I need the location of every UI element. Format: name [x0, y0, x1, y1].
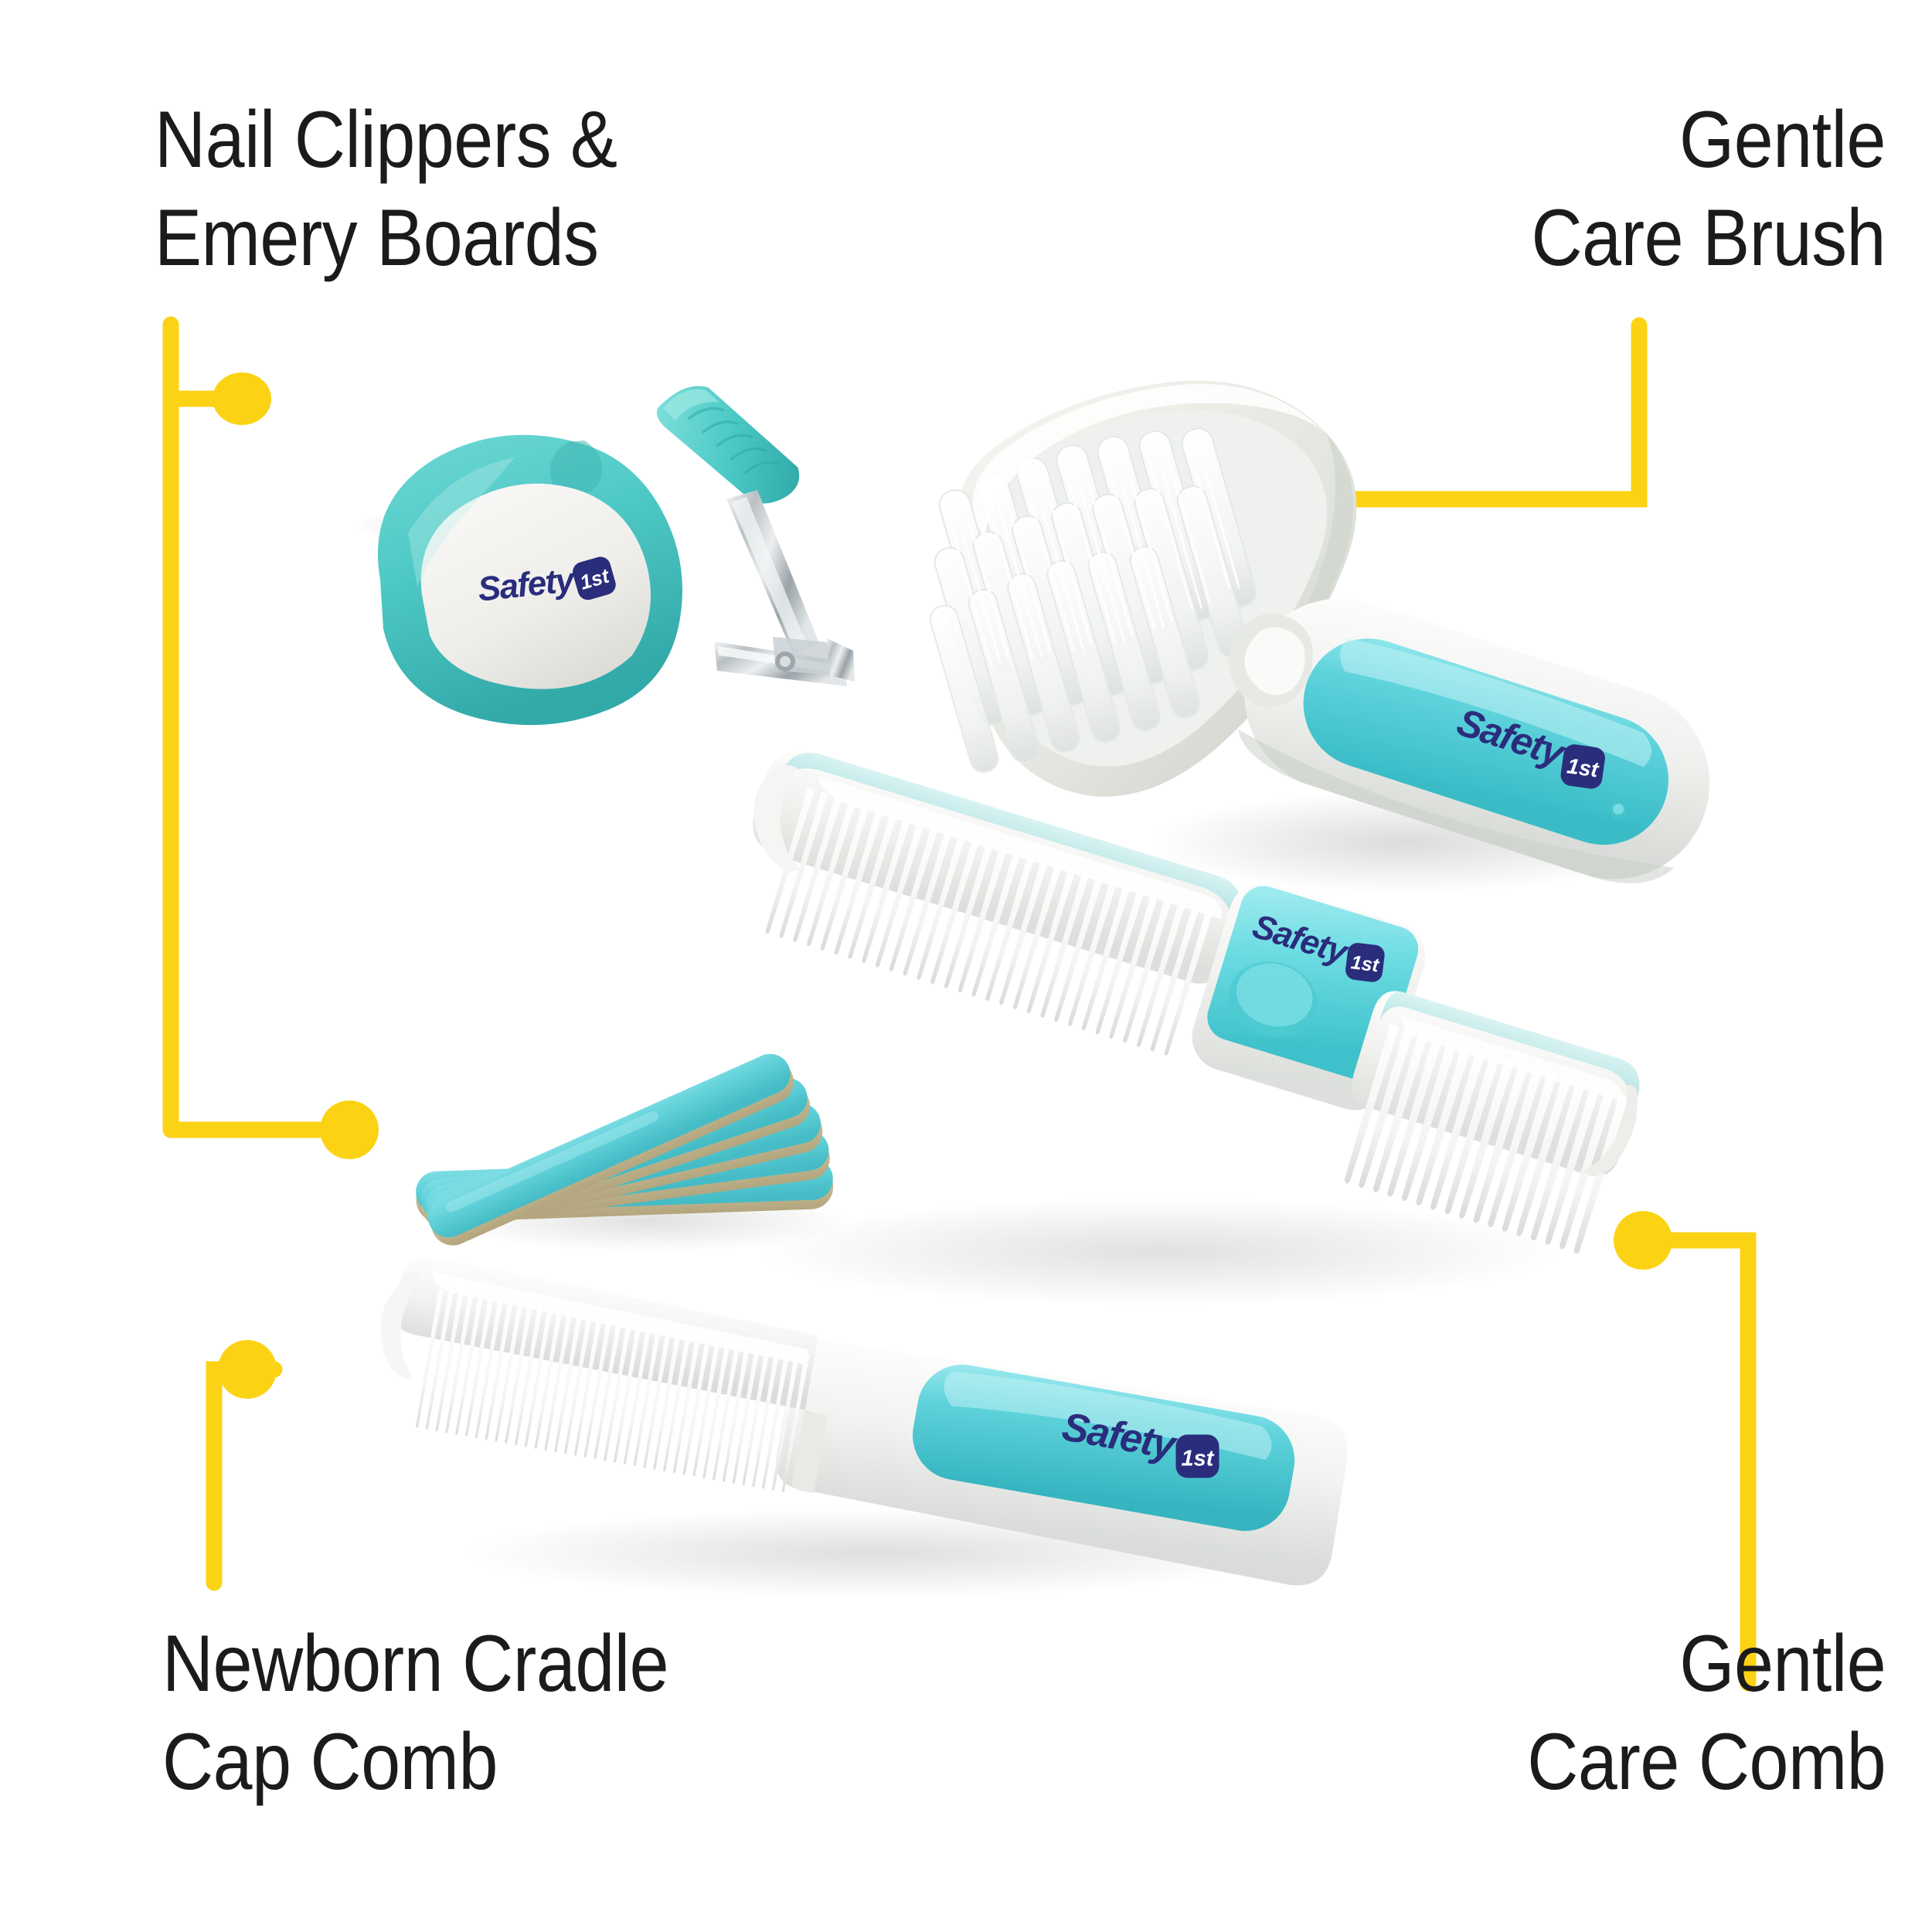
- leader-dot-nail-clipper: [213, 372, 271, 425]
- leader-dot-cradle-cap-comb: [218, 1340, 277, 1399]
- callout-label-newborn-cradle-cap-comb: Newborn Cradle Cap Comb: [162, 1615, 668, 1811]
- brand-logo-badge-text: 1st: [1566, 753, 1601, 782]
- infographic-canvas: Safety 1st: [0, 0, 1932, 1932]
- product-emery-boards: [394, 997, 889, 1260]
- leader-dot-emery-boards: [320, 1100, 379, 1159]
- product-newborn-cradle-cap-comb: Safety 1st: [332, 1298, 1352, 1623]
- leader-line-cradle: [214, 1369, 274, 1583]
- clipper-jaw: [714, 637, 855, 686]
- brand-logo-badge-text: 1st: [1349, 951, 1381, 976]
- clipper-metal-arm: [726, 490, 819, 654]
- callout-label-gentle-care-brush: Gentle Care Brush: [1532, 91, 1886, 287]
- callout-label-gentle-care-comb: Gentle Care Comb: [1527, 1615, 1886, 1811]
- callout-label-nail-clippers: Nail Clippers & Emery Boards: [155, 91, 617, 287]
- brand-logo-badge-text: 1st: [1182, 1446, 1215, 1471]
- clipper-lever: [651, 359, 808, 532]
